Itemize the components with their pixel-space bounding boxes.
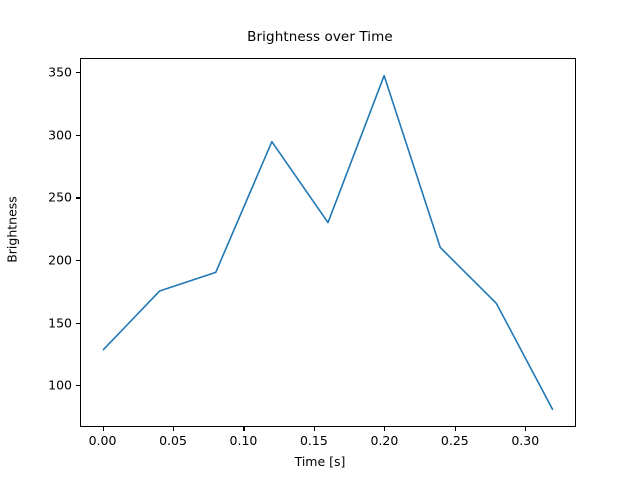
x-tick-mark bbox=[384, 427, 385, 431]
y-axis-tick-labels: 100150200250300350 bbox=[0, 0, 72, 480]
plot-area bbox=[80, 58, 576, 427]
x-tick-label: 0.05 bbox=[159, 433, 187, 448]
y-tick-label: 350 bbox=[48, 65, 72, 80]
x-tick-mark bbox=[173, 427, 174, 431]
x-tick-label: 0.25 bbox=[441, 433, 469, 448]
line-series-svg bbox=[81, 59, 575, 426]
line-series-brightness bbox=[103, 76, 552, 410]
x-tick-mark bbox=[243, 427, 244, 431]
x-tick-label: 0.10 bbox=[230, 433, 258, 448]
x-tick-label: 0.00 bbox=[89, 433, 117, 448]
y-tick-label: 300 bbox=[48, 127, 72, 142]
page-title: Brightness over Time bbox=[0, 29, 640, 45]
y-tick-label: 150 bbox=[48, 315, 72, 330]
x-tick-label: 0.20 bbox=[370, 433, 398, 448]
x-tick-mark bbox=[103, 427, 104, 431]
x-tick-mark bbox=[314, 427, 315, 431]
matplotlib-figure: Brightness over Time Brightness 10015020… bbox=[0, 0, 640, 480]
x-tick-label: 0.15 bbox=[300, 433, 328, 448]
x-tick-mark bbox=[525, 427, 526, 431]
y-tick-label: 250 bbox=[48, 190, 72, 205]
y-tick-label: 100 bbox=[48, 378, 72, 393]
x-tick-mark bbox=[455, 427, 456, 431]
x-tick-label: 0.30 bbox=[511, 433, 539, 448]
x-axis-label: Time [s] bbox=[0, 454, 640, 469]
y-tick-label: 200 bbox=[48, 253, 72, 268]
